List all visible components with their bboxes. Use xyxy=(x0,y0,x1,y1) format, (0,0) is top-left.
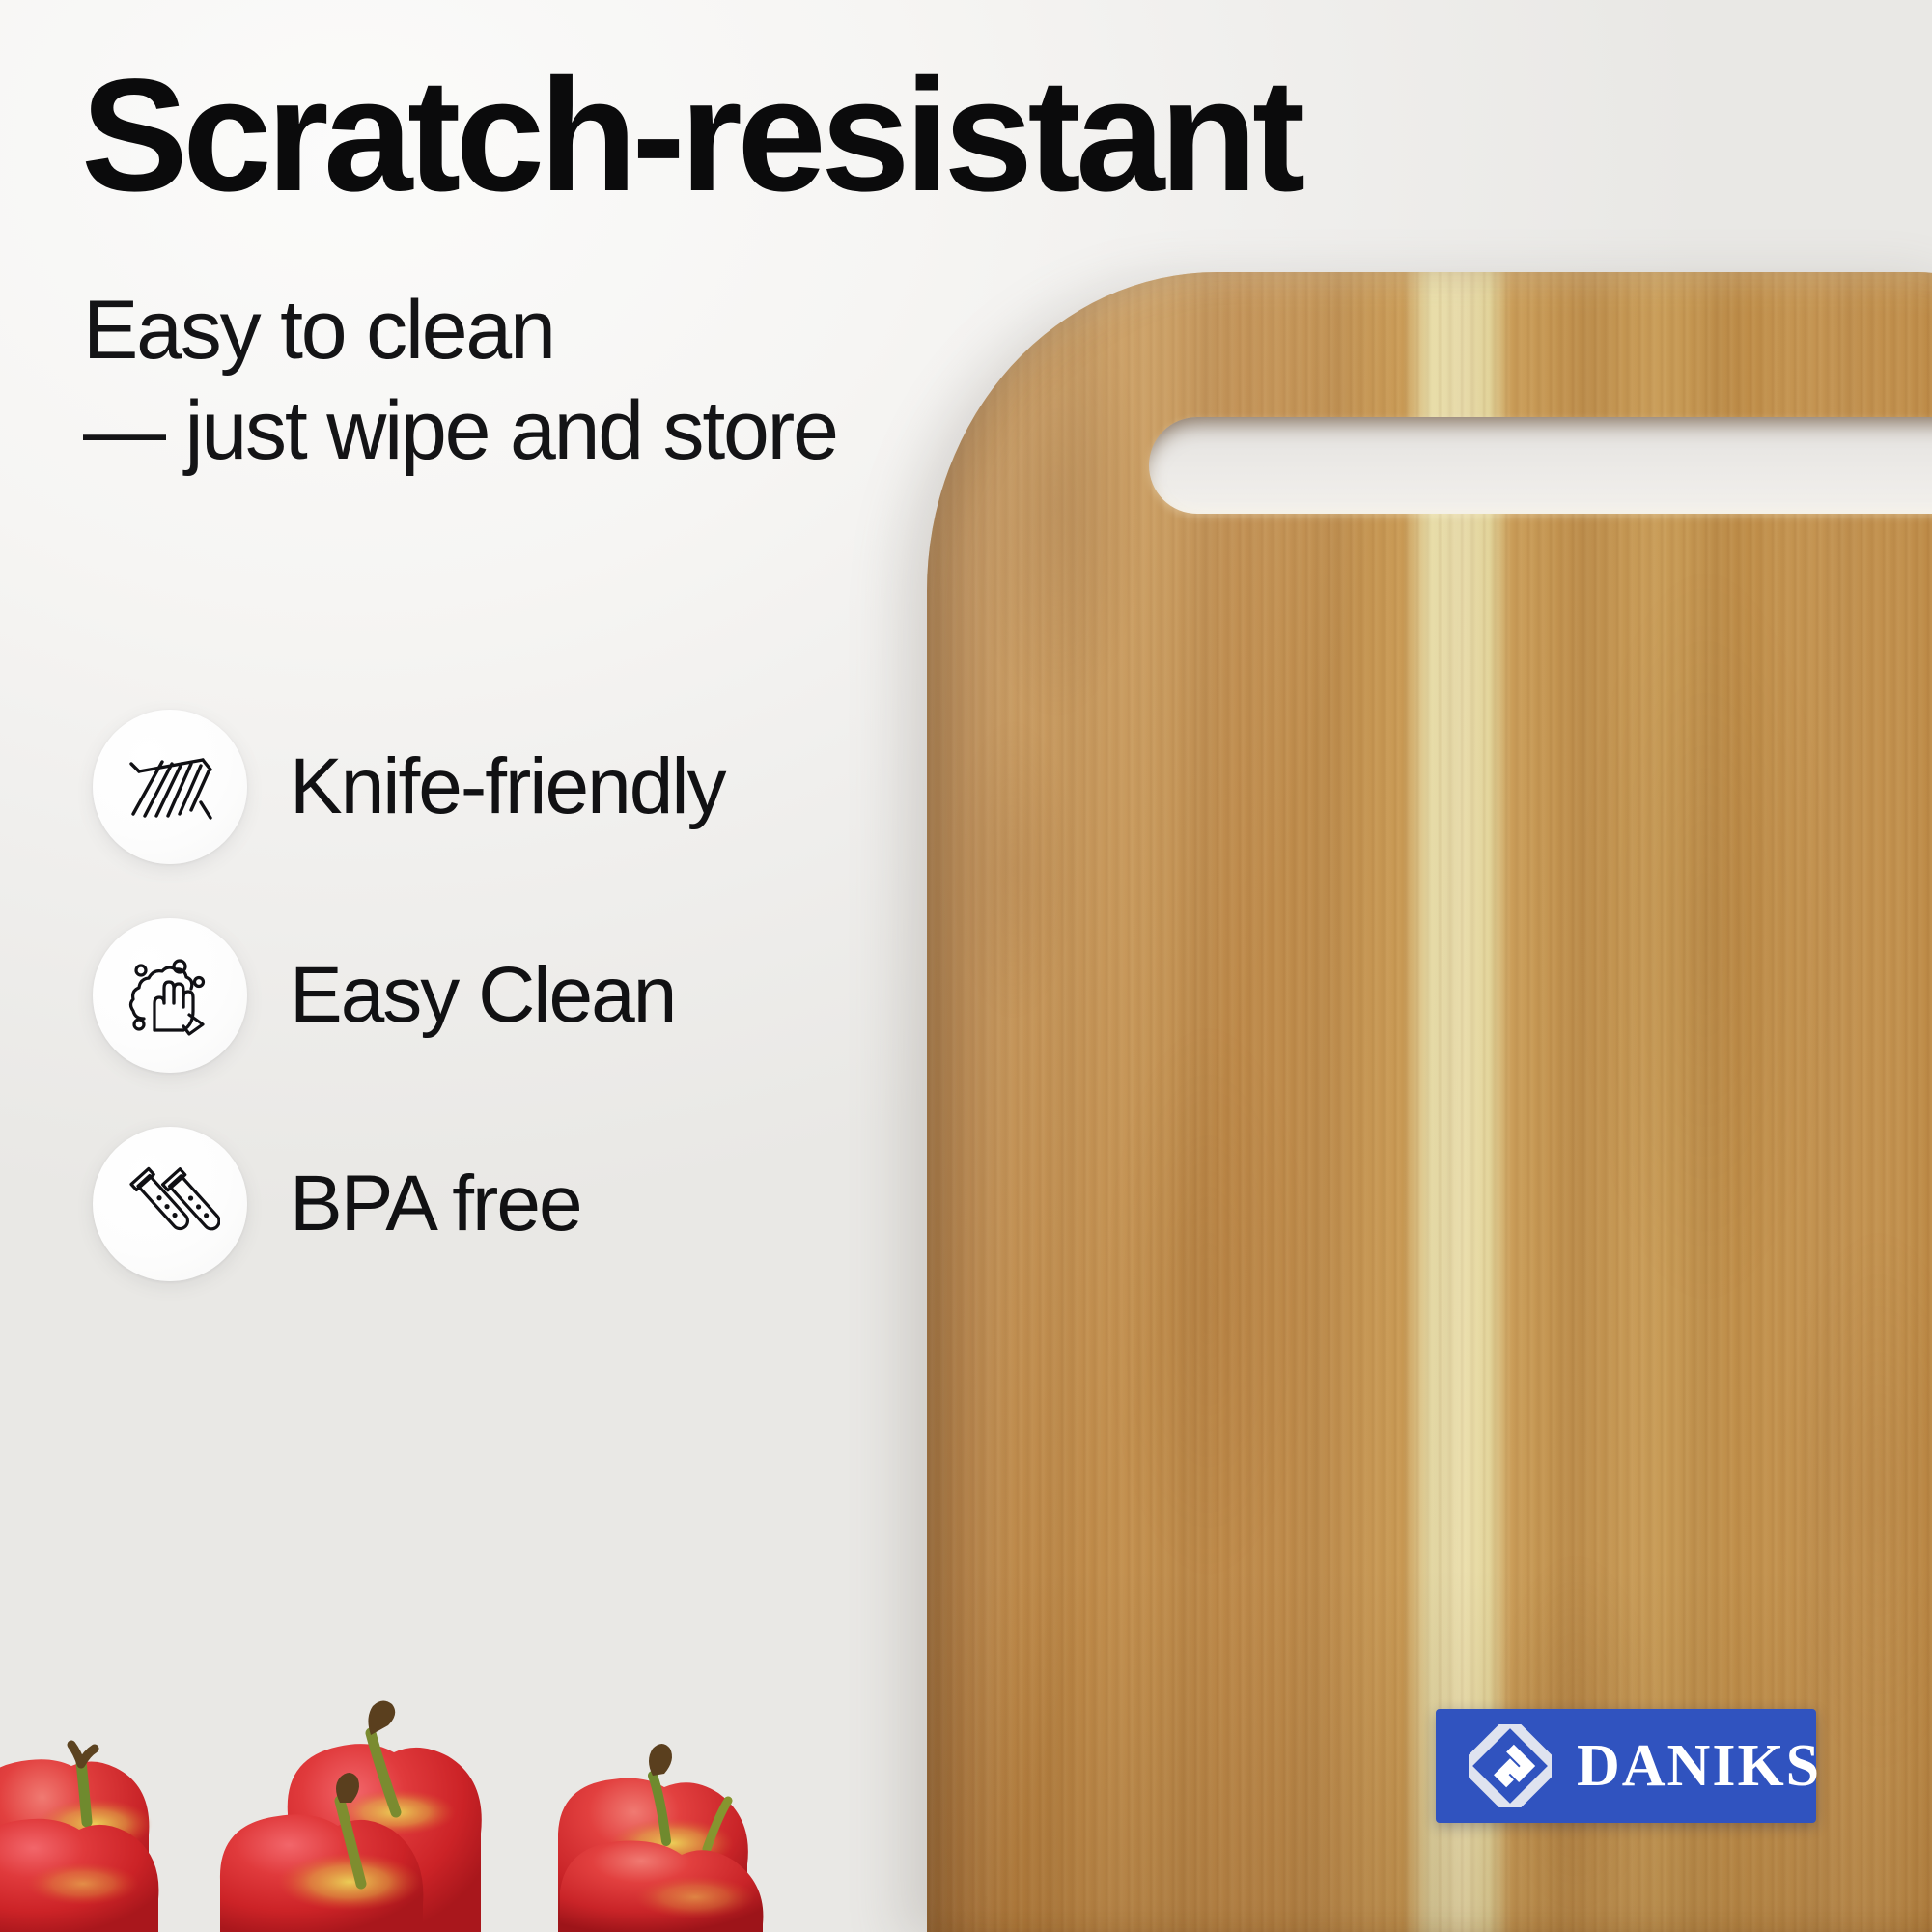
feature-list: Knife-friendly xyxy=(93,710,962,1335)
hand-wiping-cloth-icon xyxy=(120,945,220,1046)
subtitle-line-1: Easy to clean xyxy=(83,284,554,377)
red-apples-group xyxy=(0,1642,830,1932)
feature-icon-badge xyxy=(93,710,247,864)
feature-item-bpa-free: BPA free xyxy=(93,1127,962,1281)
brand-name: DANIKS xyxy=(1577,1732,1821,1801)
feature-item-easy-clean: Easy Clean xyxy=(93,918,962,1073)
page-title: Scratch-resistant xyxy=(81,56,1327,216)
feature-label: Knife-friendly xyxy=(290,742,725,832)
product-feature-card: Scratch-resistant Easy to clean — just w… xyxy=(0,0,1932,1932)
feature-icon-badge xyxy=(93,918,247,1073)
feature-label: Easy Clean xyxy=(290,950,675,1041)
subtitle: Easy to clean — just wipe and store xyxy=(83,280,1010,481)
cutting-board-image xyxy=(927,272,1932,1932)
subtitle-line-2: — just wipe and store xyxy=(83,380,1010,481)
apples-illustration xyxy=(0,1642,830,1932)
knife-scratch-marks-icon xyxy=(120,737,220,837)
feature-icon-badge xyxy=(93,1127,247,1281)
feature-label: BPA free xyxy=(290,1159,581,1249)
feature-item-knife-friendly: Knife-friendly xyxy=(93,710,962,864)
brand-badge: DANIKS xyxy=(1436,1709,1816,1823)
board-edge-bevel xyxy=(927,272,1932,1932)
test-tubes-icon xyxy=(120,1154,220,1254)
interlocking-diamond-s-icon xyxy=(1469,1724,1552,1807)
